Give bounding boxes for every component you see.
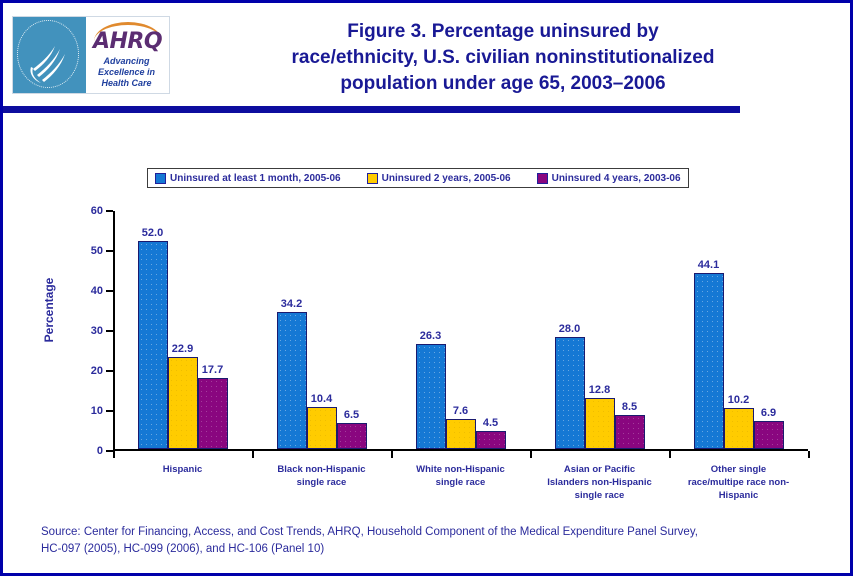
bar-slot: 12.8 — [585, 209, 615, 449]
bar-group: 52.022.917.7 — [113, 209, 252, 449]
bar[interactable]: 17.7 — [198, 378, 228, 449]
bar-value-label: 52.0 — [142, 227, 163, 239]
bar-value-label: 4.5 — [483, 417, 498, 429]
x-axis-category-label: White non-Hispanic single race — [391, 463, 530, 489]
x-axis-category-label: Hispanic — [113, 463, 252, 476]
bar[interactable]: 8.5 — [615, 415, 645, 449]
bar[interactable]: 34.2 — [277, 312, 307, 449]
bar-value-label: 10.4 — [311, 393, 332, 405]
bar[interactable]: 28.0 — [555, 337, 585, 449]
bar-slot: 4.5 — [476, 209, 506, 449]
bar-slot: 44.1 — [694, 209, 724, 449]
bar-value-label: 12.8 — [589, 384, 610, 396]
bar[interactable]: 52.0 — [138, 241, 168, 449]
x-axis-tick — [808, 451, 810, 458]
bar-value-label: 7.6 — [453, 405, 468, 417]
y-axis-tick — [106, 210, 113, 212]
y-axis-tick-label: 10 — [91, 405, 103, 417]
plot-area: 010203040506052.022.917.7Hispanic34.210.… — [113, 211, 808, 451]
bar[interactable]: 44.1 — [694, 273, 724, 449]
x-axis-tick — [530, 451, 532, 458]
bar[interactable]: 6.9 — [754, 421, 784, 449]
bar-group: 34.210.46.5 — [252, 209, 391, 449]
bar[interactable]: 4.5 — [476, 431, 506, 449]
bar-slot: 7.6 — [446, 209, 476, 449]
bar-slot: 10.2 — [724, 209, 754, 449]
bar-value-label: 6.5 — [344, 409, 359, 421]
bar[interactable]: 22.9 — [168, 357, 198, 449]
bar-value-label: 34.2 — [281, 298, 302, 310]
bar-value-label: 22.9 — [172, 343, 193, 355]
chart-area: Percentage 010203040506052.022.917.7Hisp… — [3, 3, 850, 573]
bar-slot: 17.7 — [198, 209, 228, 449]
x-axis-line — [113, 449, 808, 451]
bar-value-label: 10.2 — [728, 394, 749, 406]
bar-group-bars: 34.210.46.5 — [252, 209, 391, 449]
bar-group: 26.37.64.5 — [391, 209, 530, 449]
bar-group-bars: 26.37.64.5 — [391, 209, 530, 449]
y-axis-tick-label: 20 — [91, 365, 103, 377]
bar-slot: 6.9 — [754, 209, 784, 449]
bar-value-label: 6.9 — [761, 407, 776, 419]
y-axis-tick — [106, 330, 113, 332]
bar-value-label: 8.5 — [622, 401, 637, 413]
bar-group-bars: 44.110.26.9 — [669, 209, 808, 449]
y-axis-title: Percentage — [42, 250, 56, 370]
bar-group: 44.110.26.9 — [669, 209, 808, 449]
bar[interactable]: 12.8 — [585, 398, 615, 449]
y-axis-tick-label: 60 — [91, 205, 103, 217]
x-axis-tick — [113, 451, 115, 458]
y-axis-tick — [106, 450, 113, 452]
bar-slot: 8.5 — [615, 209, 645, 449]
y-axis-tick-label: 40 — [91, 285, 103, 297]
y-axis-tick — [106, 410, 113, 412]
bar-slot: 26.3 — [416, 209, 446, 449]
x-axis-tick — [391, 451, 393, 458]
x-axis-tick — [669, 451, 671, 458]
y-axis-tick-label: 0 — [97, 445, 103, 457]
bar-slot: 10.4 — [307, 209, 337, 449]
source-note: Source: Center for Financing, Access, an… — [41, 524, 821, 558]
y-axis-tick — [106, 370, 113, 372]
bar-value-label: 17.7 — [202, 364, 223, 376]
y-axis-tick-label: 30 — [91, 325, 103, 337]
bar[interactable]: 6.5 — [337, 423, 367, 449]
bar-group-bars: 52.022.917.7 — [113, 209, 252, 449]
bar-value-label: 44.1 — [698, 259, 719, 271]
figure-page: AHRQ Advancing Excellence in Health Care… — [0, 0, 853, 576]
bar-value-label: 28.0 — [559, 323, 580, 335]
bar-slot: 22.9 — [168, 209, 198, 449]
y-axis-tick — [106, 290, 113, 292]
bar[interactable]: 10.4 — [307, 407, 337, 449]
x-axis-category-label: Asian or Pacific Islanders non-Hispanic … — [530, 463, 669, 502]
bar-slot: 6.5 — [337, 209, 367, 449]
bar-group: 28.012.88.5 — [530, 209, 669, 449]
bar[interactable]: 7.6 — [446, 419, 476, 449]
x-axis-category-label: Other single race/multipe race non- Hisp… — [669, 463, 808, 502]
y-axis-tick-label: 50 — [91, 245, 103, 257]
bar-slot: 34.2 — [277, 209, 307, 449]
bar-slot: 28.0 — [555, 209, 585, 449]
bar[interactable]: 10.2 — [724, 408, 754, 449]
bar-value-label: 26.3 — [420, 330, 441, 342]
x-axis-tick — [252, 451, 254, 458]
x-axis-category-label: Black non-Hispanic single race — [252, 463, 391, 489]
bar[interactable]: 26.3 — [416, 344, 446, 449]
y-axis-tick — [106, 250, 113, 252]
bar-slot: 52.0 — [138, 209, 168, 449]
bar-group-bars: 28.012.88.5 — [530, 209, 669, 449]
